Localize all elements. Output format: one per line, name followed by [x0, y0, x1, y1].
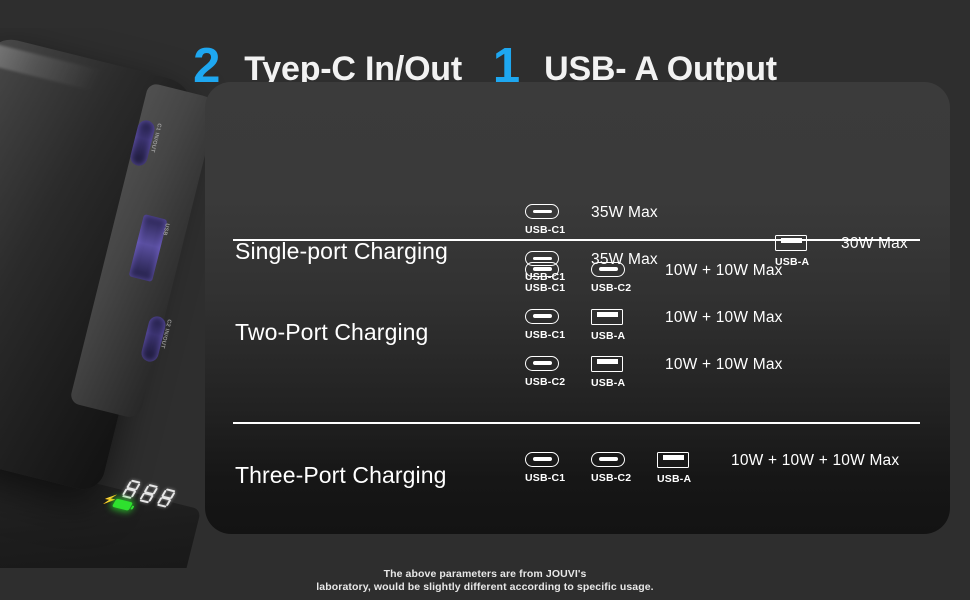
product-port-usba	[129, 214, 168, 282]
section-three-port: Three-Port Charging USB-C1 USB-C2 USB-A …	[205, 430, 950, 520]
disclaimer: The above parameters are from JOUVI's la…	[0, 568, 970, 594]
product-port-face	[69, 82, 219, 420]
usb-c-icon	[525, 309, 559, 324]
port-label: USB-C1	[525, 282, 565, 294]
usb-c-icon	[525, 204, 559, 219]
product-label-c2: C2 IN/OUT	[159, 319, 172, 349]
spec-row: USB-C1 USB-A 10W + 10W Max	[525, 309, 950, 356]
port-slot: USB-A	[657, 452, 723, 485]
port-label: USB-C1	[525, 224, 565, 236]
led-digit-3	[155, 488, 177, 508]
disclaimer-line-2: laboratory, would be slightly different …	[0, 581, 970, 594]
usb-c-icon	[591, 452, 625, 467]
usb-c-icon	[591, 262, 625, 277]
spec-row: USB-C1 USB-C2 10W + 10W Max	[525, 262, 950, 309]
three-port-combo-list: USB-C1 USB-C2 USB-A 10W + 10W + 10W Max	[525, 452, 950, 499]
port-slot: USB-A	[591, 309, 657, 342]
section-divider	[233, 239, 920, 241]
port-slot: USB-C1	[525, 262, 591, 294]
port-slot: USB-C2	[591, 262, 657, 294]
product-port-usbc1	[129, 119, 157, 168]
port-label: USB-C2	[525, 376, 565, 388]
lightning-bolt-icon: ⚡	[100, 494, 119, 507]
product-image: C1 IN/OUT USB C2 IN/OUT ⚡	[0, 28, 240, 568]
port-label: USB-C2	[591, 282, 631, 294]
port-label: USB-A	[591, 330, 625, 342]
led-digit-1	[120, 479, 142, 499]
port-slot: USB-C1	[525, 452, 591, 484]
usb-c-icon	[525, 356, 559, 371]
section-label-three: Three-Port Charging	[205, 462, 525, 489]
product-base	[0, 454, 201, 568]
battery-indicator-icon	[112, 499, 133, 511]
port-slot: USB-A	[591, 356, 657, 389]
section-two-port: Two-Port Charging USB-C1 USB-C2 10W + 10…	[205, 242, 950, 422]
product-label-c1: C1 IN/OUT	[149, 123, 162, 153]
port-label: USB-C1	[525, 472, 565, 484]
port-slot: USB-C2	[525, 356, 591, 388]
product-body	[0, 34, 201, 494]
usb-a-icon	[591, 356, 623, 372]
port-slot: USB-C1	[525, 309, 591, 341]
usb-a-icon	[657, 452, 689, 468]
disclaimer-line-1: The above parameters are from JOUVI's	[0, 568, 970, 581]
usb-c-icon	[525, 452, 559, 467]
port-label: USB-A	[657, 473, 691, 485]
led-digit-2	[138, 484, 160, 504]
port-label: USB-C2	[591, 472, 631, 484]
spec-panel: Single-port Charging USB-C1 35W Max USB-…	[205, 82, 950, 534]
section-label-two: Two-Port Charging	[205, 319, 525, 346]
port-slot: USB-C2	[591, 452, 657, 484]
power-value: 35W Max	[591, 204, 658, 221]
port-label: USB-C1	[525, 329, 565, 341]
typec-count: 2	[193, 39, 220, 93]
product-label-usb: USB	[161, 223, 170, 237]
section-divider	[233, 422, 920, 424]
port-label: USB-A	[591, 377, 625, 389]
two-port-combo-list: USB-C1 USB-C2 10W + 10W Max USB-C1 USB-A…	[525, 262, 950, 403]
power-value: 10W + 10W Max	[657, 309, 783, 326]
product-shadow	[0, 28, 240, 568]
spec-row: USB-C2 USB-A 10W + 10W Max	[525, 356, 950, 403]
spec-row: USB-C1 USB-C2 USB-A 10W + 10W + 10W Max	[525, 452, 950, 499]
power-value: 10W + 10W Max	[657, 262, 783, 279]
product-port-usbc2	[140, 315, 168, 364]
port-slot: USB-C1	[525, 204, 591, 236]
product-led-display: ⚡	[93, 473, 186, 527]
usb-c-icon	[525, 262, 559, 277]
usb-a-icon	[591, 309, 623, 325]
power-value: 10W + 10W + 10W Max	[723, 452, 899, 469]
power-value: 10W + 10W Max	[657, 356, 783, 373]
